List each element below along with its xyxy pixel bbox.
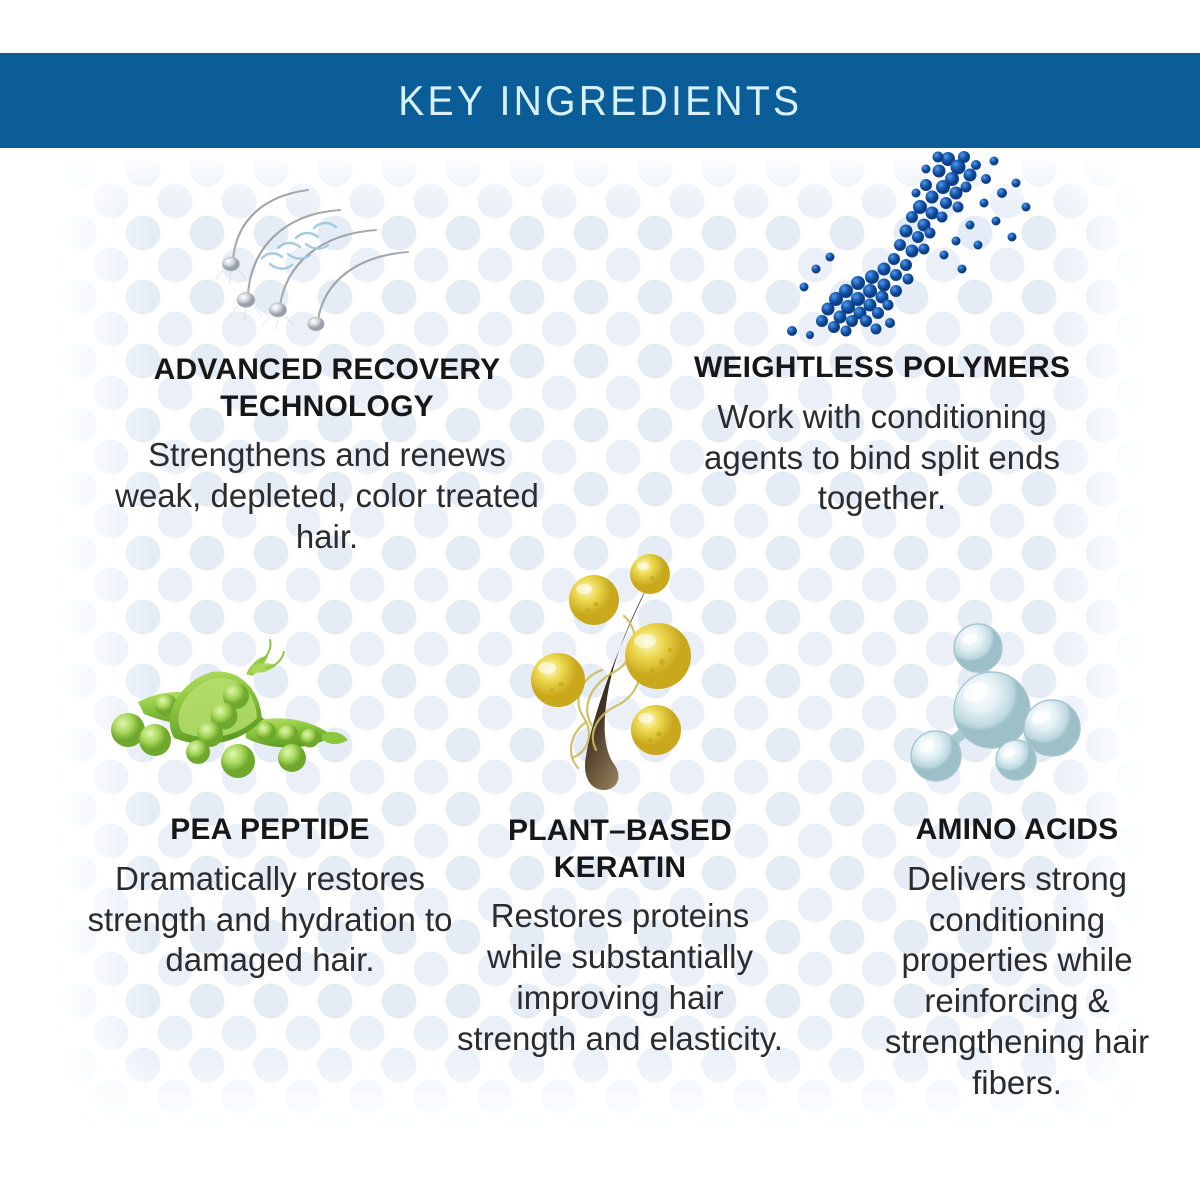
ingredient-title: PEA PEPTIDE <box>80 812 460 849</box>
ingredient-description: Restores proteins while substantially im… <box>455 896 785 1060</box>
molecule-icon <box>900 618 1085 803</box>
header-banner: KEY INGREDIENTS <box>0 53 1200 148</box>
ingredient-title: PLANT–BASED KERATIN <box>455 813 785 886</box>
hair-follicles-icon <box>190 178 440 333</box>
blue-polymer-beads-icon <box>780 145 1040 345</box>
ingredient-description: Strengthens and renews weak, depleted, c… <box>112 435 542 558</box>
ingredient-card-plant-based-keratin: PLANT–BASED KERATIN Restores proteins wh… <box>455 813 785 1060</box>
pea-pods-icon <box>100 628 355 813</box>
ingredient-title: ADVANCED RECOVERY TECHNOLOGY <box>112 352 542 425</box>
key-ingredients-poster: KEY INGREDIENTS <box>0 0 1200 1200</box>
ingredient-card-pea-peptide: PEA PEPTIDE Dramatically restores streng… <box>80 812 460 981</box>
ingredient-title: WEIGHTLESS POLYMERS <box>672 350 1092 387</box>
ingredient-description: Dramatically restores strength and hydra… <box>80 859 460 982</box>
ingredient-card-advanced-recovery-technology: ADVANCED RECOVERY TECHNOLOGY Strengthens… <box>112 352 542 558</box>
ingredient-card-amino-acids: AMINO ACIDS Delivers strong conditioning… <box>862 812 1172 1104</box>
page-title: KEY INGREDIENTS <box>398 77 802 125</box>
hair-strand-with-oil-droplets-icon <box>528 552 723 807</box>
ingredient-title: AMINO ACIDS <box>862 812 1172 849</box>
ingredient-description: Work with conditioning agents to bind sp… <box>672 397 1092 520</box>
ingredient-card-weightless-polymers: WEIGHTLESS POLYMERS Work with conditioni… <box>672 350 1092 519</box>
ingredient-description: Delivers strong conditioning properties … <box>862 859 1172 1104</box>
